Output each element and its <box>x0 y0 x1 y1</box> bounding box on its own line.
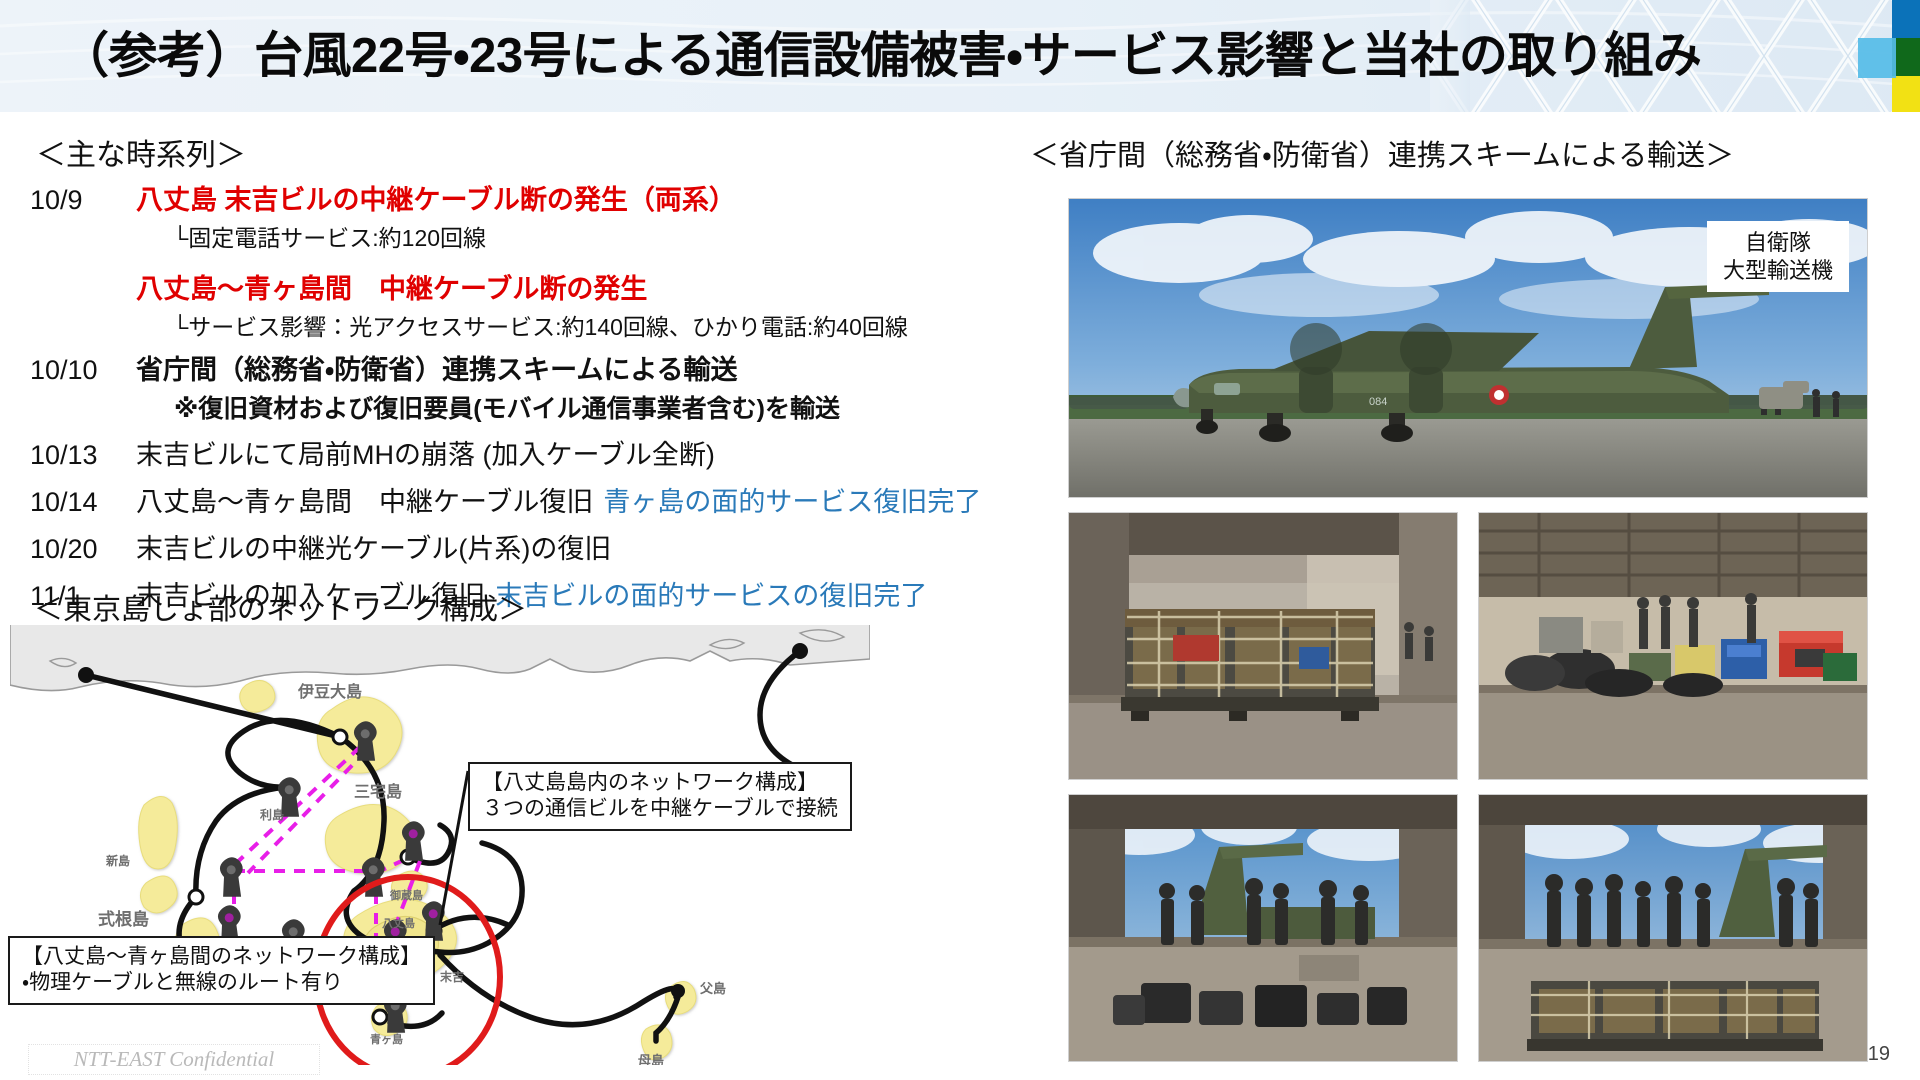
island-shikinejima <box>140 876 177 913</box>
timeline-row: 10/14 八丈島～青ヶ島間 中継ケーブル復旧 青ヶ島の面的サービス復旧完了 <box>24 480 904 519</box>
callout-aogashima-network: 【八丈島～青ヶ島間のネットワーク構成】 ・物理ケーブルと無線のルート有り <box>8 936 435 1005</box>
caption-line-1: 自衛隊 <box>1723 229 1833 257</box>
island-label-inner: 八丈島 <box>382 916 415 930</box>
network-map-heading: ＜東京島しょ部のネットワーク構成＞ <box>34 586 527 628</box>
timeline-section: ＜主な時系列＞ 10/9 八丈島 末吉ビルの中継ケーブル断の発生（両系） └固定… <box>24 130 904 615</box>
confidential-footer: NTT-EAST Confidential <box>28 1044 320 1075</box>
corner-block-yellow <box>1892 76 1920 112</box>
timeline-row: 10/9 八丈島 末吉ビルの中継ケーブル断の発生（両系） <box>24 178 904 217</box>
island-label: 新島 <box>105 853 130 868</box>
island-niijima <box>139 796 178 869</box>
timeline-row: 八丈島～青ヶ島間 中継ケーブル断の発生 <box>24 267 904 306</box>
landmass-honshu <box>10 625 870 691</box>
timeline-text: 省庁間（総務省・防衛省）連携スキームによる輸送 <box>136 348 738 387</box>
timeline-status: 青ヶ島の面的サービス復旧完了 <box>603 480 981 519</box>
slide-canvas: （参考）台風22号・23号による通信設備被害・サービス影響と当社の取り組み ＜主… <box>0 0 1920 1080</box>
island-label: 利島 <box>260 807 284 822</box>
photo-pallet-cargo <box>1068 512 1458 780</box>
timeline-row: 10/20 末吉ビルの中継光ケーブル(片系)の復旧 <box>24 527 904 566</box>
corner-block-blue <box>1892 0 1920 38</box>
photo-crew-group-image <box>1479 795 1868 1062</box>
callout-line-2: ３つの通信ビルを中継ケーブルで接続 <box>482 796 838 822</box>
island-label: 青ヶ島 <box>370 1032 403 1046</box>
timeline-date: 10/10 <box>24 355 136 386</box>
corner-block-green <box>1892 38 1920 76</box>
photo-pallet-cargo-image <box>1069 513 1458 780</box>
photo-aircraft-caption: 自衛隊 大型輸送機 <box>1707 221 1849 292</box>
slide-header: （参考）台風22号・23号による通信設備被害・サービス影響と当社の取り組み <box>0 0 1920 112</box>
island-label: 伊豆大島 <box>297 682 362 701</box>
photo-loading-crew <box>1068 794 1458 1062</box>
timeline-heading: ＜主な時系列＞ <box>36 130 904 174</box>
page-title: （参考）台風22号・23号による通信設備被害・サービス影響と当社の取り組み <box>60 20 1820 92</box>
timeline-subtext: └固定電話サービス:約120回線 <box>24 219 904 253</box>
timeline-date: 10/9 <box>24 185 136 216</box>
timeline-text: 八丈島～青ヶ島間 中継ケーブル断の発生 <box>136 267 647 306</box>
island-label: 母島 <box>638 1053 664 1065</box>
timeline-note: ※復旧資材および復旧要員(モバイル通信事業者含む)を輸送 <box>24 389 904 425</box>
timeline-text: 末吉ビルの中継光ケーブル(片系)の復旧 <box>136 527 611 566</box>
callout-line-1: 【八丈島島内のネットワーク構成】 <box>482 770 838 796</box>
cargo-pallet <box>1121 609 1379 721</box>
timeline-row: 10/13 末吉ビルにて局前MHの崩落 (加入ケーブル全断) <box>24 433 904 472</box>
svg-text:084: 084 <box>1369 396 1387 408</box>
island-toshima <box>240 680 275 712</box>
timeline-date: 10/13 <box>24 440 136 471</box>
timeline-subtext: └サービス影響：光アクセスサービス:約140回線、ひかり電話:約40回線 <box>24 308 904 342</box>
island-label: 三宅島 <box>354 782 402 801</box>
island-label: 式根島 <box>98 909 149 929</box>
callout-line-1: 【八丈島～青ヶ島間のネットワーク構成】 <box>22 944 421 970</box>
island-label: 末吉 <box>440 969 464 984</box>
island-label: 父島 <box>699 981 726 996</box>
callout-line-2: ・物理ケーブルと無線のルート有り <box>22 970 421 996</box>
header-corner-blocks <box>1862 0 1920 112</box>
timeline-status: 末吉ビルの面的サービスの復旧完了 <box>495 574 927 613</box>
callout-hachijo-network: 【八丈島島内のネットワーク構成】 ３つの通信ビルを中継ケーブルで接続 <box>468 762 852 831</box>
timeline-text: 八丈島 末吉ビルの中継ケーブル断の発生（両系） <box>136 178 736 217</box>
photo-supplies <box>1478 512 1868 780</box>
page-number: 19 <box>1868 1043 1890 1066</box>
photo-crew-group <box>1478 794 1868 1062</box>
transport-section-heading: ＜省庁間（総務省・防衛省）連携スキームによる輸送＞ <box>1030 132 1734 174</box>
timeline-date: 10/20 <box>24 534 136 565</box>
timeline-spacer <box>24 255 904 267</box>
photo-supplies-image <box>1479 513 1868 780</box>
timeline-row: 10/10 省庁間（総務省・防衛省）連携スキームによる輸送 <box>24 348 904 387</box>
timeline-text: 末吉ビルにて局前MHの崩落 (加入ケーブル全断) <box>136 433 715 472</box>
timeline-text: 八丈島～青ヶ島間 中継ケーブル復旧 <box>136 480 593 519</box>
caption-line-2: 大型輸送機 <box>1723 257 1833 285</box>
timeline-date: 10/14 <box>24 487 136 518</box>
photo-aircraft: 084 自衛隊 大型輸送機 <box>1068 198 1868 498</box>
corner-block-cyan <box>1858 38 1896 78</box>
photo-loading-crew-image <box>1069 795 1458 1062</box>
island-label: 御蔵島 <box>389 888 423 902</box>
